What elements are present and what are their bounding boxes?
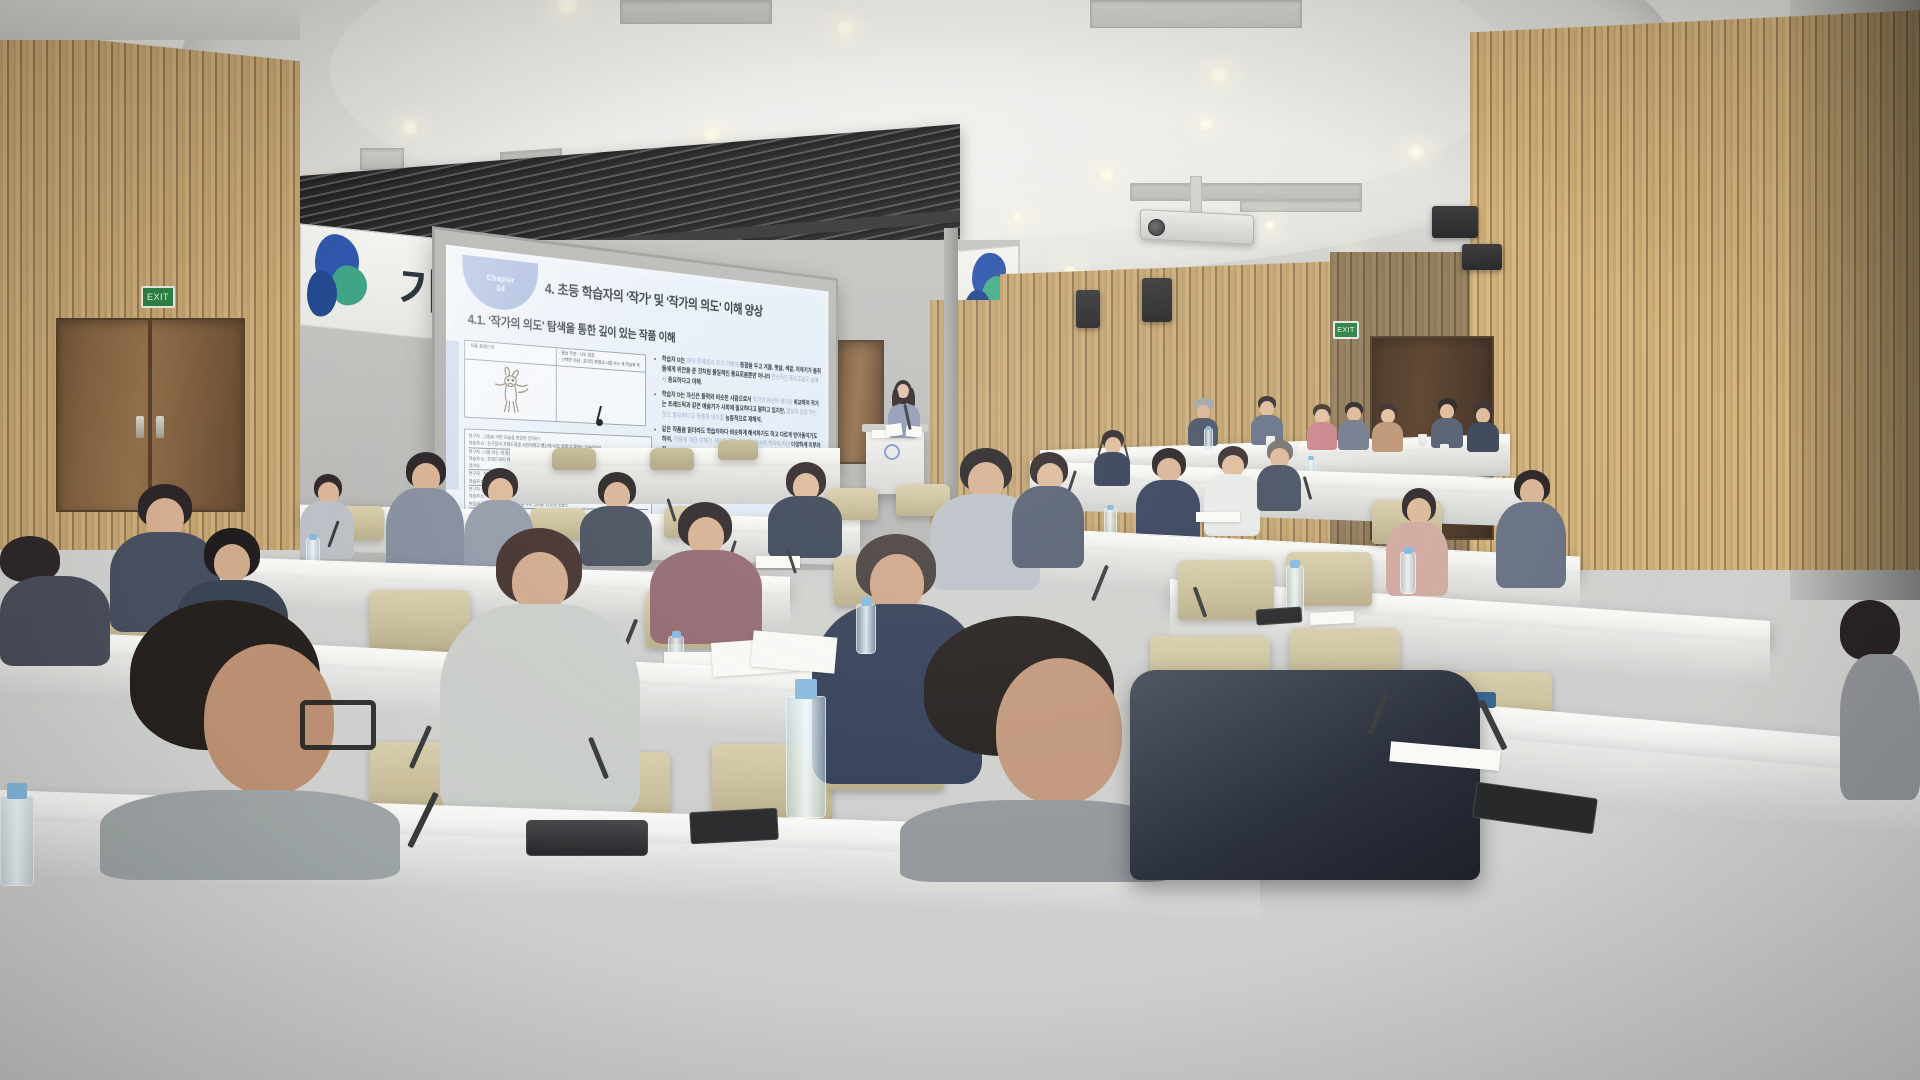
list-item: 학습자 D는 자아 정체성과 자기 이해에 중점을 두고 겨울, 햇살, 색깔,… (662, 354, 822, 396)
head (1381, 409, 1395, 423)
torso (1094, 452, 1130, 486)
audience-member (650, 502, 762, 644)
bottle-cap (1107, 505, 1114, 510)
list-item: 학습자 D는 자신은 들쥐와 비슷한 사람으로서 작가의 자신의 생각을 비교하… (662, 389, 822, 428)
exit-sign-label: EXIT (147, 292, 169, 302)
audience-member (1012, 452, 1084, 568)
head (1260, 401, 1274, 416)
ceiling-downlight (700, 128, 724, 142)
smartphone[interactable] (1255, 606, 1302, 625)
torso (1188, 418, 1218, 446)
audience-member (1256, 440, 1302, 512)
loudspeaker (1076, 290, 1100, 328)
bottle-cap (795, 679, 817, 699)
ceiling-downlight (398, 120, 422, 134)
head (1476, 408, 1490, 423)
projector-lens (1148, 219, 1165, 236)
ceiling-downlight (1096, 168, 1118, 181)
head (1315, 409, 1329, 423)
bottle-cap (7, 783, 27, 799)
door-handle[interactable] (136, 416, 144, 438)
torso (440, 604, 640, 816)
bottle-cap (1308, 456, 1314, 460)
audience-member (1186, 398, 1220, 448)
audience-member (1372, 404, 1404, 454)
loudspeaker (1142, 278, 1172, 322)
smartphone[interactable] (689, 808, 779, 845)
ceiling-vent (620, 0, 772, 24)
torso (100, 790, 400, 880)
bottle-cap (309, 534, 317, 540)
banner-blob-teal (331, 264, 367, 308)
audience-member (1092, 430, 1132, 488)
torso (1467, 422, 1499, 452)
backpack[interactable] (1130, 670, 1480, 880)
torso (1840, 654, 1920, 800)
audience-member-left-edge (0, 536, 110, 666)
artwork-side-note (557, 366, 645, 425)
ceiling-air-diffuser (1240, 200, 1362, 212)
bullet-segment: 학습자 D는 (662, 356, 687, 364)
torso (1372, 422, 1403, 452)
bottle-cap (861, 597, 872, 606)
audience-member (1204, 446, 1260, 538)
lectern-logo (884, 444, 900, 460)
slide-chapter-badge: Chapter 04 (462, 255, 538, 314)
exit-sign-label: EXIT (1337, 327, 1355, 334)
audience-member (1430, 398, 1464, 450)
torso (1257, 465, 1301, 511)
torso (1386, 522, 1448, 596)
stage-chair[interactable] (552, 448, 596, 470)
paper-cup[interactable] (1440, 444, 1449, 457)
water-bottle[interactable] (856, 604, 876, 654)
projector-mount (1190, 176, 1202, 216)
ceiling-downlight (832, 20, 858, 36)
loudspeaker (1432, 206, 1478, 238)
paper-cup[interactable] (1418, 434, 1427, 447)
bottle-cap (1206, 426, 1211, 430)
bullet-segment: 중요하다고 이해. (668, 377, 702, 386)
ceiling-air-diffuser (1130, 183, 1362, 201)
torso (1012, 486, 1084, 568)
ceiling-downlight (1010, 212, 1026, 222)
rabbit-icon-svg (488, 365, 533, 416)
wall-right-shadow (1790, 0, 1920, 600)
ceiling-downlight (1196, 118, 1216, 130)
printed-handout[interactable] (1310, 611, 1355, 625)
head (1347, 407, 1361, 421)
smartphone-holder[interactable] (526, 820, 648, 856)
torso (1204, 474, 1260, 536)
head (996, 658, 1122, 804)
audience-member-foreground-far-right (1840, 600, 1920, 800)
chapter-badge-line2: 04 (497, 284, 505, 295)
head (512, 552, 568, 612)
torso (1307, 422, 1337, 450)
photo-canvas: 기 EXIT EXIT Chapter 04 4. 초등 학 (0, 0, 1920, 1080)
audience-member (1496, 470, 1566, 590)
ceiling-downlight (1262, 220, 1278, 230)
torso (0, 576, 110, 666)
wall-plaster-left-upper (0, 0, 300, 40)
head (1197, 405, 1210, 419)
ceiling-vent (360, 148, 404, 170)
head (214, 544, 250, 582)
bottle-cap (672, 631, 681, 638)
slide-artwork-table: · 작품 프레드릭 · 활동 주장 : 나도 잡겠. · 선택한 까닭 : 프리… (464, 340, 646, 426)
audience-member (1338, 402, 1370, 452)
bullet-segment: 자아 정체성과 자기 이해에 (686, 358, 740, 368)
exit-sign-icon: EXIT (141, 286, 175, 308)
stage-chair[interactable] (718, 440, 758, 460)
rabbit-line-drawing-icon (465, 359, 557, 421)
audience-member (1466, 402, 1500, 454)
bullet-segment: 능동적으로 재해석. (725, 415, 762, 423)
printed-handout[interactable] (1196, 512, 1240, 522)
audience-member (1306, 404, 1338, 452)
presenter-handout (885, 423, 903, 437)
bottle-cap (1290, 560, 1300, 568)
water-bottle[interactable] (1400, 552, 1416, 594)
ceiling-downlight (1205, 66, 1233, 83)
exit-sign-icon: EXIT (1333, 321, 1359, 339)
door-left[interactable] (56, 318, 245, 512)
water-bottle[interactable] (0, 796, 34, 886)
ceiling-vent (1090, 0, 1302, 28)
eyeglasses-icon (300, 700, 376, 750)
head (1157, 458, 1181, 482)
audience-member (1386, 488, 1448, 598)
loudspeaker (1462, 244, 1502, 270)
ceiling-downlight (1404, 145, 1428, 159)
torso (1496, 502, 1566, 588)
hair (1840, 600, 1900, 660)
door-divider (148, 320, 152, 510)
door-handle[interactable] (156, 416, 164, 438)
torso (1338, 420, 1369, 450)
printed-handout-open[interactable] (751, 630, 838, 673)
head (1440, 404, 1454, 419)
stage-chair[interactable] (650, 448, 694, 470)
head (1407, 498, 1431, 524)
water-bottle[interactable] (786, 696, 826, 818)
bullet-segment: 작가의 자신의 생각을 (753, 397, 794, 406)
torso (650, 550, 762, 644)
audience-member (440, 528, 640, 818)
bottle-cap (1404, 547, 1413, 554)
